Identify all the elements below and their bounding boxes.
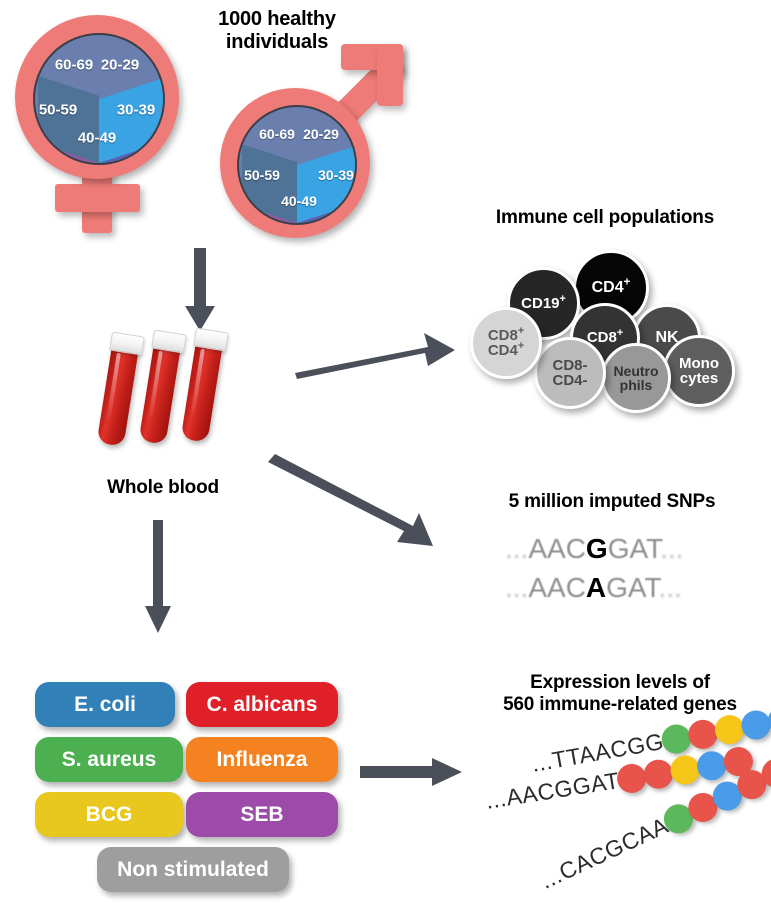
gene-bead bbox=[695, 749, 728, 782]
pie-label-50-59: 50-59 bbox=[244, 167, 280, 183]
gene-bead bbox=[712, 713, 746, 747]
pie-label-40-49: 40-49 bbox=[78, 130, 116, 147]
cell-label: CD8+ bbox=[587, 330, 623, 345]
snp-variant: A bbox=[586, 572, 606, 603]
pie-label-30-39: 30-39 bbox=[117, 102, 155, 119]
cell-label: Monocytes bbox=[679, 356, 719, 387]
gene-bead bbox=[642, 758, 675, 791]
blood-tubes bbox=[108, 330, 278, 460]
gene-bead bbox=[739, 708, 771, 742]
snp-left: AAC bbox=[528, 533, 586, 564]
diagram-canvas: 1000 healthy individuals 20-29 30-39 40-… bbox=[0, 0, 771, 922]
arrow-stimuli-to-expression bbox=[360, 757, 465, 787]
stimuli-panel: E. coli C. albicans S. aureus Influenza … bbox=[35, 682, 335, 897]
cell-monocytes: Monocytes bbox=[663, 335, 735, 407]
gene-sequence: ...CACGCAA bbox=[536, 812, 672, 895]
immune-title: Immune cell populations bbox=[447, 207, 763, 229]
cell-label: Neutrophils bbox=[613, 364, 658, 393]
stimulus-label: E. coli bbox=[74, 693, 136, 717]
snp-suffix: ... bbox=[660, 533, 683, 564]
gene-bead bbox=[668, 753, 701, 786]
snps-title: 5 million imputed SNPs bbox=[462, 491, 762, 513]
stimulus-s-aureus[interactable]: S. aureus bbox=[35, 737, 183, 782]
blood-tube bbox=[139, 330, 183, 445]
stimulus-label: C. albicans bbox=[207, 693, 318, 717]
snp-sequence-row: ...AACAGAT... bbox=[505, 572, 682, 604]
stimulus-bcg[interactable]: BCG bbox=[35, 792, 183, 837]
blood-tube bbox=[181, 328, 225, 443]
snp-right: GAT bbox=[608, 533, 660, 564]
stimulus-label: BCG bbox=[86, 803, 133, 827]
arrow-blood-to-snps bbox=[268, 452, 453, 547]
cell-cd8-negative-cd4-negative: CD8-CD4- bbox=[534, 337, 606, 409]
pie-label-60-69: 60-69 bbox=[259, 126, 295, 142]
snp-prefix: ... bbox=[505, 533, 528, 564]
pie-label-50-59: 50-59 bbox=[39, 102, 77, 119]
male-arrow-barb-vertical bbox=[377, 44, 403, 106]
stimulus-label: S. aureus bbox=[62, 748, 157, 772]
blood-tube bbox=[97, 332, 141, 447]
cell-neutrophils: Neutrophils bbox=[601, 343, 671, 413]
stimulus-non-stimulated[interactable]: Non stimulated bbox=[97, 847, 289, 892]
arrow-blood-to-stimuli bbox=[140, 520, 176, 635]
stimulus-label: Influenza bbox=[216, 748, 307, 772]
snp-variant: G bbox=[586, 533, 608, 564]
whole-blood-label: Whole blood bbox=[78, 477, 248, 499]
stimulus-influenza[interactable]: Influenza bbox=[186, 737, 338, 782]
snp-prefix: ... bbox=[505, 572, 528, 603]
snp-left: AAC bbox=[528, 572, 586, 603]
pie-label-20-29: 20-29 bbox=[101, 57, 139, 74]
stimulus-e-coli[interactable]: E. coli bbox=[35, 682, 175, 727]
stimulus-label: SEB bbox=[240, 803, 283, 827]
pie-label-40-49: 40-49 bbox=[281, 193, 317, 209]
female-symbol: 20-29 30-39 40-49 50-59 60-69 bbox=[8, 8, 188, 238]
expression-title: Expression levels of 560 immune-related … bbox=[470, 672, 770, 716]
male-symbol: 20-29 30-39 40-49 50-59 60-69 bbox=[200, 30, 400, 250]
immune-cell-cluster: CD4+ CD19+ NK CD8+ Monocytes Neutrophils… bbox=[470, 245, 760, 410]
pie-label-60-69: 60-69 bbox=[55, 57, 93, 74]
snp-right: GAT bbox=[606, 572, 658, 603]
pie-label-30-39: 30-39 bbox=[318, 167, 354, 183]
snp-suffix: ... bbox=[659, 572, 682, 603]
arrow-blood-to-immune bbox=[295, 330, 460, 380]
stimulus-c-albicans[interactable]: C. albicans bbox=[186, 682, 338, 727]
female-stem-cross bbox=[55, 184, 140, 212]
cell-label: CD4+ bbox=[592, 280, 631, 296]
pie-label-20-29: 20-29 bbox=[303, 126, 339, 142]
cell-label: CD8+CD4+ bbox=[488, 328, 524, 359]
snp-sequence-row: ...AACGGAT... bbox=[505, 533, 683, 565]
arrow-cohort-to-blood bbox=[180, 248, 220, 333]
stimulus-label: Non stimulated bbox=[117, 858, 269, 882]
cell-label: CD19+ bbox=[521, 296, 566, 311]
cell-label: CD8-CD4- bbox=[552, 358, 587, 389]
stimulus-seb[interactable]: SEB bbox=[186, 792, 338, 837]
gene-expression-strands: ...TTAACGG ...AACGGAT ...CACGCAA bbox=[460, 735, 771, 915]
cell-cd8-positive-cd4-positive: CD8+CD4+ bbox=[470, 307, 542, 379]
gene-bead bbox=[686, 718, 720, 752]
